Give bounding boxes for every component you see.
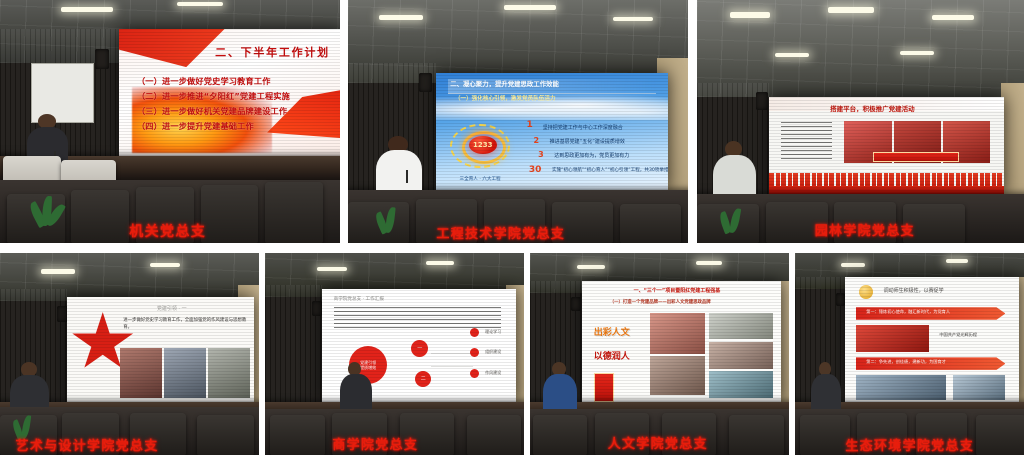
diagram-bullet <box>470 348 479 357</box>
microphone <box>406 170 408 183</box>
slide-subtitle: （一）打造一个党建品牌——出彩人文党建思政品牌 <box>610 299 711 305</box>
meeting-room-scene: 一、“三个一”项目暨阳红党建工程强基 （一）打造一个党建品牌——出彩人文党建思政… <box>530 253 789 455</box>
slide-red-star: 党建引领 · 一 进一步做好党史学习教育工作，全面加强党的作风建设与思想教育。 <box>67 297 253 402</box>
arrow-text: 第二：争先进，创佳绩，建新功，为国育才 <box>866 359 946 365</box>
wall-speaker <box>419 73 432 92</box>
ceiling-lamp <box>696 261 722 265</box>
item-text: 实施“初心领航”“初心育人”“初心引领”工程，共30项举措 <box>552 167 668 173</box>
chair <box>270 415 324 455</box>
slide-photo <box>709 371 773 398</box>
slide-tag: 三全育人 · 六大工程 <box>460 176 501 182</box>
item-number: 2 <box>533 136 539 145</box>
slide-bullet: （一）进一步做好党史学习教育工作 <box>137 75 271 87</box>
slide-bullet: （四）进一步提升党建基础工作 <box>137 120 254 132</box>
potted-plant <box>3 398 39 438</box>
photo-caption: 工程技术学院党总支 <box>436 223 565 242</box>
ceiling-lamp <box>379 15 423 20</box>
branch-label: 理论学习 <box>485 329 501 335</box>
photo-cell-4: 党建引领 · 一 进一步做好党史学习教育工作，全面加强党的作风建设与思想教育。 <box>0 253 259 455</box>
item-text: 达到思政更加有为，党员更加有力 <box>554 152 629 159</box>
photo-cell-3: 搭建平台，积极推广党建活动 <box>697 0 1024 243</box>
slide-photo <box>650 356 706 395</box>
diagram-connector <box>431 353 474 354</box>
slide-photo <box>164 348 206 398</box>
ceiling-lamp <box>577 265 605 269</box>
photo-cell-5: 商学院党总支 · 工作汇报 党建引领 提质增效 一 二 理论学习 组织建设 作风… <box>265 253 524 455</box>
ceiling-lamp <box>61 7 113 12</box>
item-number: 1 <box>527 120 533 130</box>
led-screen: 二、下半年工作计划 （一）进一步做好党史学习教育工作 （二）进一步推进“夕阳红”… <box>119 29 340 155</box>
ceiling-lamp <box>932 15 974 20</box>
item-text: 推进基层党建“五化”建设提质增效 <box>550 138 625 145</box>
potted-plant <box>362 185 410 234</box>
ceiling-lamp <box>613 17 653 21</box>
slide-photo-grid: 一、“三个一”项目暨阳红党建工程强基 （一）打造一个党建品牌——出彩人文党建思政… <box>582 281 781 402</box>
led-screen: 一、“三个一”项目暨阳红党建工程强基 （一）打造一个党建品牌——出彩人文党建思政… <box>582 281 781 402</box>
slide-body: 进一步做好党史学习教育工作，全面加强党的作风建设与思想教育。 <box>123 318 246 331</box>
slide-header: 党建引领 · 一 <box>157 305 187 312</box>
chair <box>197 415 254 455</box>
wall-speaker <box>95 49 109 69</box>
wall-speaker <box>571 297 581 311</box>
chair <box>620 204 681 243</box>
photo-cell-1: 二、下半年工作计划 （一）进一步做好党史学习教育工作 （二）进一步推进“夕阳红”… <box>0 0 340 243</box>
wall-speaker <box>57 306 68 322</box>
chair <box>265 182 323 243</box>
slide-header: 商学院党总支 · 工作汇报 <box>334 296 384 302</box>
decor-skyline-base <box>769 186 1004 195</box>
ceiling-lamp <box>775 53 809 57</box>
wall-speaker <box>312 301 322 316</box>
slide-header: 调动师生积极性，以赛促学 <box>884 287 944 294</box>
slide-banner <box>873 152 960 163</box>
slide-blue-data: 二、凝心聚力，提升党建思政工作效能 （一）强化核心引领，激发党员队伍活力 123… <box>436 73 667 190</box>
diagram-connector <box>431 366 474 367</box>
slide-bullet: （三）进一步做好机关党建品牌建设工作 <box>137 105 287 117</box>
ceiling-lamp <box>426 261 454 265</box>
photo-collage: 二、下半年工作计划 （一）进一步做好党史学习教育工作 （二）进一步推进“夕阳红”… <box>0 0 1024 455</box>
slide-title: 二、凝心聚力，提升党建思政工作效能 <box>450 79 559 88</box>
slide-arrow-list: 调动师生积极性，以赛促学 第一：锤炼初心使命，融汇新时代，为党育人 中国共产党光… <box>845 277 1019 402</box>
photo-strip <box>120 348 251 398</box>
chair <box>533 415 587 455</box>
slide-photo <box>856 325 929 353</box>
item-number: 30 <box>529 165 542 175</box>
led-screen: 搭建平台，积极推广党建活动 <box>769 97 1004 194</box>
slide-brand-secondary: 以德润人 <box>594 349 630 362</box>
diagram-bullet <box>470 369 479 378</box>
ceiling-lamp <box>828 7 874 13</box>
led-screen: 调动师生积极性，以赛促学 第一：锤炼初心使命，融汇新时代，为党育人 中国共产党光… <box>845 277 1019 402</box>
chair <box>976 415 1024 455</box>
slide-bullet: （二）进一步推进“夕阳红”党建工程实施 <box>137 90 290 102</box>
ceiling-lamp <box>730 12 770 18</box>
slide-side-text: 中国共产党光辉历程 <box>939 332 977 338</box>
meeting-room-scene: 二、凝心聚力，提升党建思政工作效能 （一）强化核心引领，激发党员队伍活力 123… <box>348 0 688 243</box>
branch-label: 组织建设 <box>485 349 501 355</box>
ceiling-lamp <box>150 263 180 267</box>
slide-body-text <box>781 122 833 161</box>
meeting-room-scene: 二、下半年工作计划 （一）进一步做好党史学习教育工作 （二）进一步推进“夕阳红”… <box>0 0 340 243</box>
plant-leaf <box>385 207 396 234</box>
meeting-room-scene: 商学院党总支 · 工作汇报 党建引领 提质增效 一 二 理论学习 组织建设 作风… <box>265 253 524 455</box>
decor-medal <box>859 285 873 299</box>
slide-brand: 出彩人文 <box>594 325 630 338</box>
slide-photo <box>120 348 162 398</box>
chair <box>800 415 850 455</box>
photo-cell-7: 调动师生积极性，以赛促学 第一：锤炼初心使命，融汇新时代，为党育人 中国共产党光… <box>795 253 1024 455</box>
slide-photo <box>709 342 773 369</box>
ceiling-lamp <box>946 259 968 263</box>
photo-caption: 人文学院党总支 <box>608 433 708 452</box>
slide-photo <box>650 313 706 354</box>
photo-caption: 商学院党总支 <box>332 434 418 453</box>
ceiling-lamp <box>841 263 865 267</box>
slide-photo <box>953 375 1005 400</box>
ceiling-lamp <box>177 2 223 6</box>
meeting-room-scene: 党建引领 · 一 进一步做好党史学习教育工作，全面加强党的作风建设与思想教育。 <box>0 253 259 455</box>
slide-title: 二、下半年工作计划 <box>215 44 330 60</box>
slide-photo <box>709 313 773 340</box>
ceiling-lamp <box>317 267 347 271</box>
arrow-text: 第一：锤炼初心使命，融汇新时代，为党育人 <box>866 309 950 315</box>
photo-cell-6: 一、“三个一”项目暨阳红党建工程强基 （一）打造一个党建品牌——出彩人文党建思政… <box>530 253 789 455</box>
slide-body-text <box>334 307 501 327</box>
chair <box>729 415 783 455</box>
ceiling-lamp <box>41 269 75 274</box>
slide-red-plan: 二、下半年工作计划 （一）进一步做好党史学习教育工作 （二）进一步推进“夕阳红”… <box>119 29 340 155</box>
slide-title: 一、“三个一”项目暨阳红党建工程强基 <box>634 287 721 294</box>
item-number: 3 <box>538 150 544 159</box>
item-text: 坚持把党建工作与中心工作深度融合 <box>543 124 623 131</box>
metric-badge: 1233 <box>469 136 497 154</box>
slide-subtitle: （一）强化核心引领，激发党员队伍活力 <box>455 94 556 102</box>
photo-cell-2: 二、凝心聚力，提升党建思政工作效能 （一）强化核心引领，激发党员队伍活力 123… <box>348 0 688 243</box>
chair <box>467 415 521 455</box>
chair <box>71 190 129 243</box>
attendee <box>338 362 374 415</box>
meeting-room-scene: 调动师生积极性，以赛促学 第一：锤炼初心使命，融汇新时代，为党育人 中国共产党光… <box>795 253 1024 455</box>
chair <box>201 185 259 243</box>
ceiling-lamp <box>504 5 556 10</box>
meeting-room-scene: 搭建平台，积极推广党建活动 <box>697 0 1024 243</box>
photo-caption: 机关党总支 <box>129 221 206 241</box>
slide-photo <box>856 375 946 400</box>
plant-leaf <box>729 208 741 234</box>
diagram-bullet <box>470 328 479 337</box>
potted-plant <box>17 173 71 226</box>
led-screen: 党建引领 · 一 进一步做好党史学习教育工作，全面加强党的作风建设与思想教育。 <box>67 297 253 402</box>
photo-caption: 艺术与设计学院党总支 <box>16 435 159 454</box>
wall-speaker <box>756 92 768 110</box>
photo-caption: 生态环境学院党总支 <box>845 435 974 454</box>
slide-title: 搭建平台，积极推广党建活动 <box>830 103 915 113</box>
slide-white-photos: 搭建平台，积极推广党建活动 <box>769 97 1004 194</box>
led-screen: 二、凝心聚力，提升党建思政工作效能 （一）强化核心引领，激发党员队伍活力 123… <box>436 73 667 190</box>
slide-banner <box>594 373 614 402</box>
ceiling-lamp <box>900 51 934 55</box>
potted-plant <box>707 190 750 234</box>
diagram-bubble: 二 <box>415 371 431 387</box>
photo-caption: 园林学院党总支 <box>815 220 915 239</box>
branch-label: 作风建设 <box>485 370 501 376</box>
slide-photo <box>208 348 250 398</box>
diagram-bubble: 一 <box>411 340 428 357</box>
wall-speaker <box>836 293 845 306</box>
